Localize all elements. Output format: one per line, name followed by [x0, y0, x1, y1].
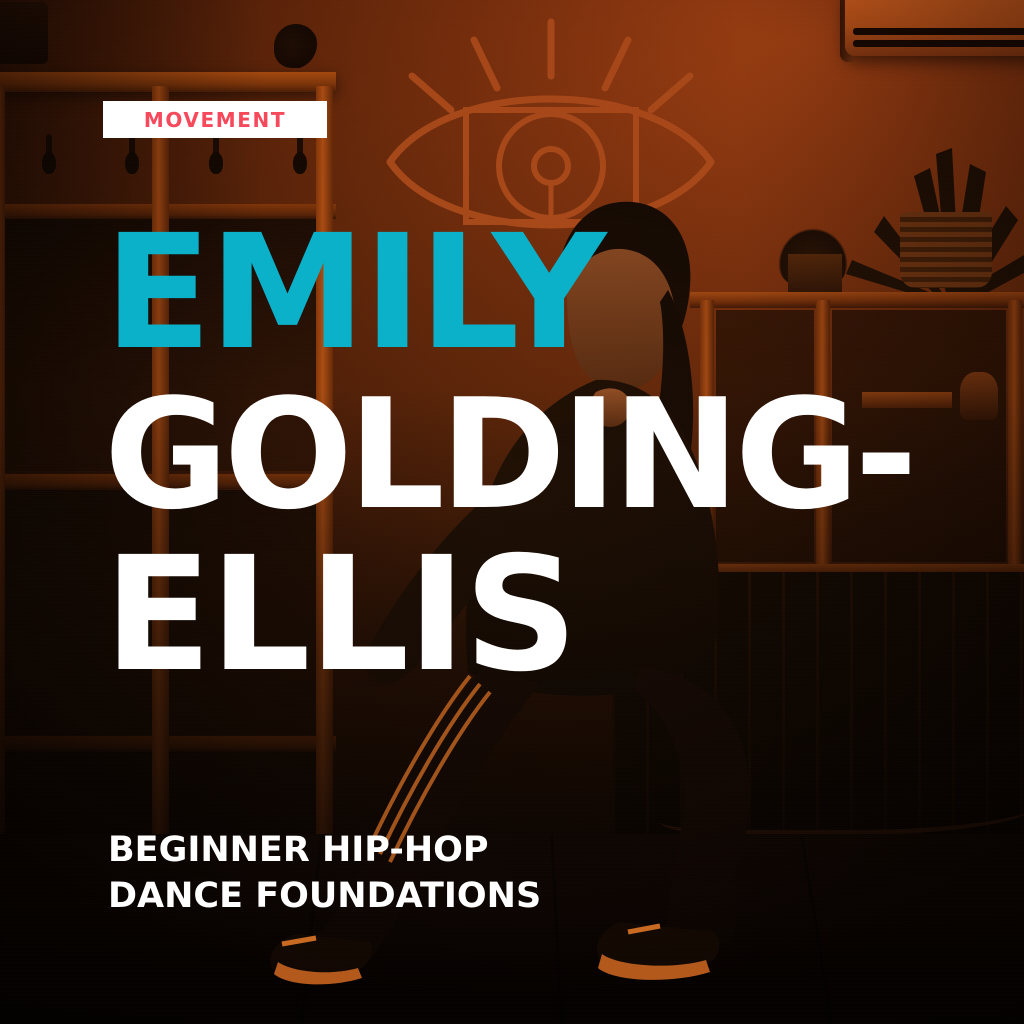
- instructor-name-headline: EMILY GOLDING- ELLIS: [104, 218, 944, 703]
- headline-line-surname-part-1: GOLDING-: [104, 382, 944, 528]
- subtitle-line-1: BEGINNER HIP-HOP: [108, 827, 728, 873]
- class-subtitle: BEGINNER HIP-HOP DANCE FOUNDATIONS: [108, 827, 728, 919]
- category-badge-label: MOVEMENT: [144, 110, 286, 130]
- poster-content: MOVEMENT EMILY GOLDING- ELLIS BEGINNER H…: [0, 0, 1024, 1024]
- promo-poster: MOVEMENT EMILY GOLDING- ELLIS BEGINNER H…: [0, 0, 1024, 1024]
- subtitle-line-2: DANCE FOUNDATIONS: [108, 873, 728, 919]
- category-badge: MOVEMENT: [103, 101, 327, 138]
- headline-line-first-name: EMILY: [104, 218, 944, 370]
- headline-line-surname-part-2: ELLIS: [104, 540, 944, 692]
